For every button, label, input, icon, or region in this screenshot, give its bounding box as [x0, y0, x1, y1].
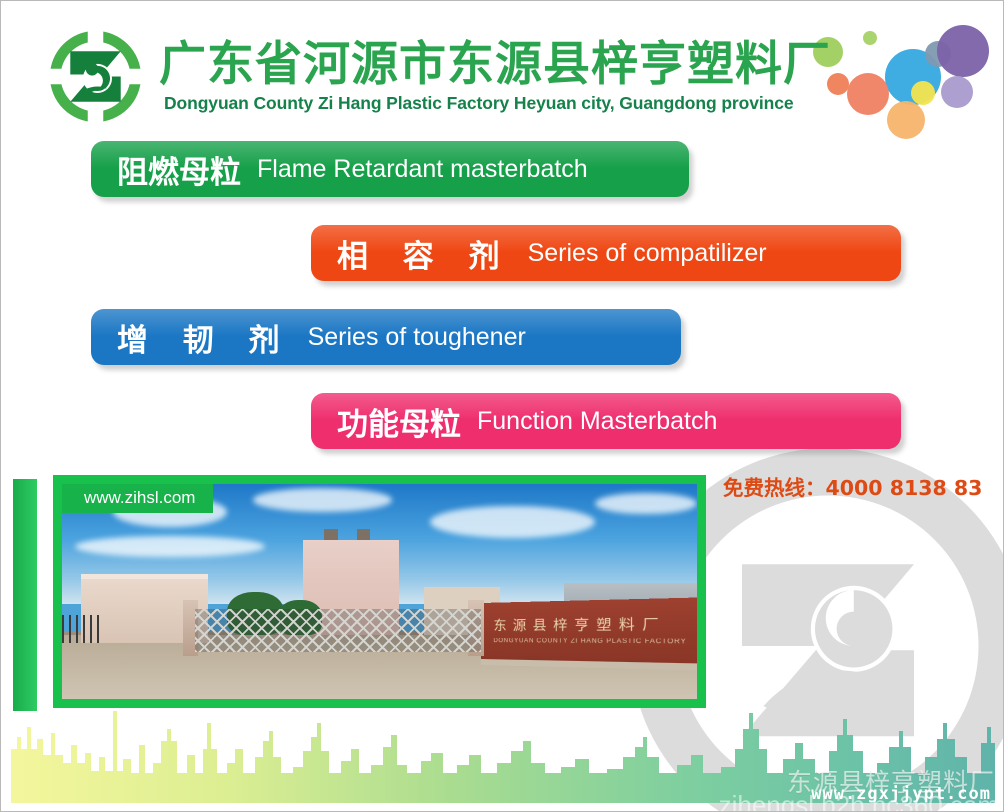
hotline-text: 免费热线：4000 8138 83	[723, 471, 982, 501]
factory-photo-frame: 东源县梓亨塑料厂 DONGYUAN COUNTY ZI HANG PLASTIC…	[53, 475, 706, 708]
cloud	[595, 493, 697, 515]
photo-signboard-wall: 东源县梓亨塑料厂 DONGYUAN COUNTY ZI HANG PLASTIC…	[481, 596, 697, 670]
product-banner-toughener[interactable]: 增 韧 剂 Series of toughener	[91, 309, 681, 365]
product-label-cn: 阻燃母粒	[117, 147, 241, 192]
product-label-en: Function Masterbatch	[477, 407, 717, 436]
factory-photo: 东源县梓亨塑料厂 DONGYUAN COUNTY ZI HANG PLASTIC…	[62, 484, 697, 699]
photo-railing	[62, 615, 100, 643]
cloud	[253, 488, 393, 512]
product-label-en: Series of compatilizer	[528, 239, 767, 268]
page-title: 广东省河源市东源县梓亨塑料厂	[159, 25, 831, 94]
cloud	[75, 536, 266, 558]
product-label-cn: 增 韧 剂	[117, 315, 292, 360]
photo-url-label: www.zihsl.com	[62, 484, 213, 513]
product-label-en: Flame Retardant masterbatch	[257, 155, 588, 184]
product-banner-compatilizer[interactable]: 相 容 剂 Series of compatilizer	[311, 225, 901, 281]
page-subtitle: Dongyuan County Zi Hang Plastic Factory …	[164, 93, 793, 114]
cloud	[430, 506, 595, 538]
product-label-cn: 功能母粒	[337, 399, 461, 444]
product-label-cn: 相 容 剂	[337, 231, 512, 276]
product-banner-flame-retardant[interactable]: 阻燃母粒 Flame Retardant masterbatch	[91, 141, 689, 197]
product-label-en: Series of toughener	[308, 323, 526, 352]
poster-canvas: 广东省河源市东源县梓亨塑料厂 Dongyuan County Zi Hang P…	[0, 0, 1004, 812]
photo-signboard-en: DONGYUAN COUNTY ZI HANG PLASTIC FACTORY	[494, 637, 687, 645]
poster-header: 广东省河源市东源县梓亨塑料厂 Dongyuan County Zi Hang P…	[1, 1, 1004, 131]
photo-signboard-cn: 东源县梓亨塑料厂	[494, 612, 667, 634]
watermark-site-url: www.zgxjjypt.com	[811, 784, 991, 804]
left-accent-bar	[13, 479, 37, 711]
product-banner-function-masterbatch[interactable]: 功能母粒 Function Masterbatch	[311, 393, 901, 449]
company-logo-icon	[47, 28, 144, 125]
photo-retractable-gate	[195, 609, 481, 652]
